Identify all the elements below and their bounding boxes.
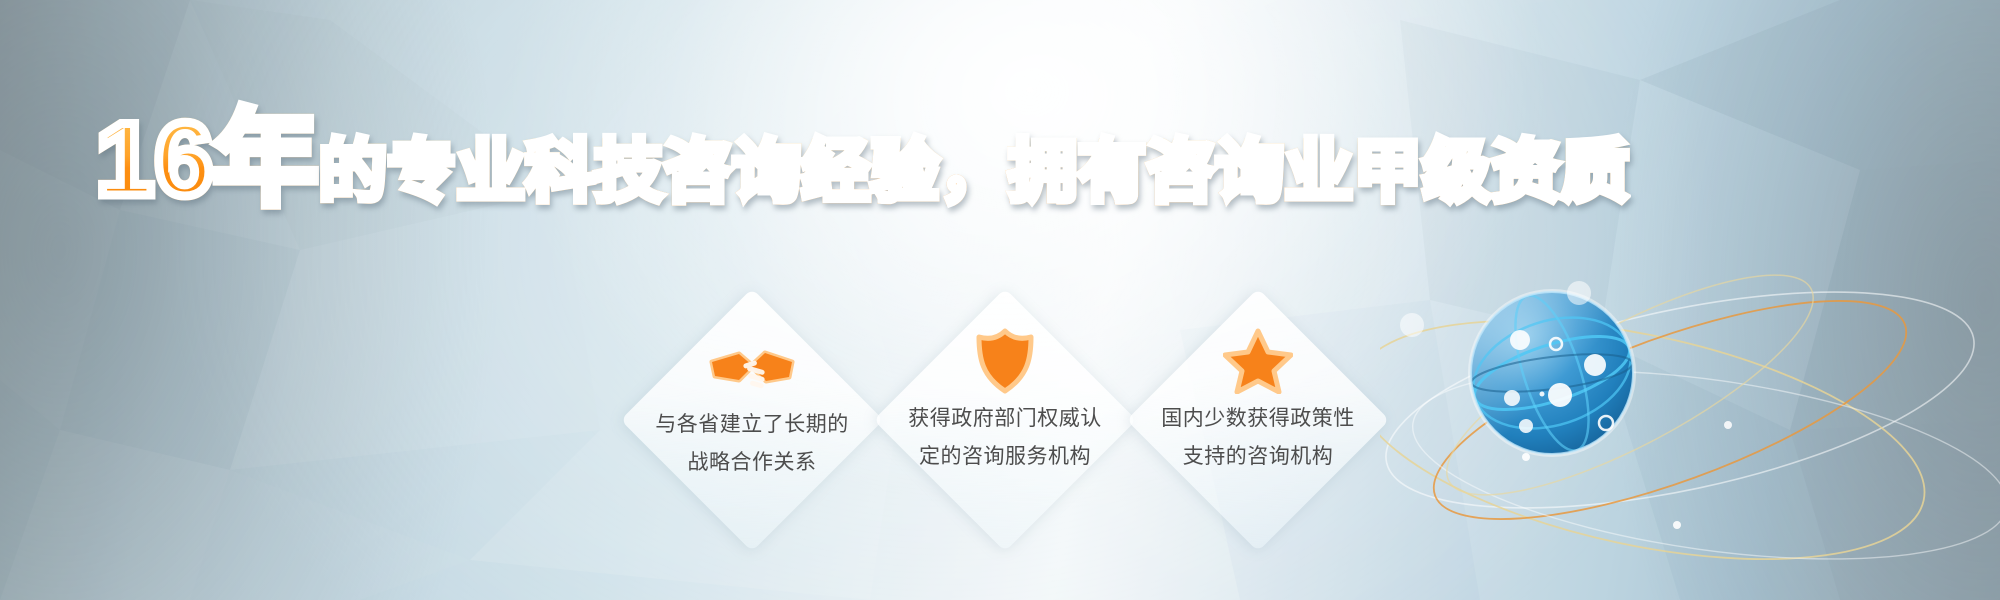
globe-decoration [1380, 250, 2000, 600]
star-icon [1108, 332, 1408, 394]
feature-card-3-line1: 国内少数获得政策性 [1108, 400, 1408, 438]
promo-banner: 16年的专业科技咨询经验，拥有咨询业甲级资质 与各省建立了 [0, 0, 2000, 600]
orbit-rings-decoration [1380, 250, 2000, 600]
headline-highlight: 16年 [96, 108, 319, 212]
headline-rest: 的专业科技咨询经验，拥有咨询业甲级资质 [319, 138, 1630, 206]
headline: 16年的专业科技咨询经验，拥有咨询业甲级资质 [96, 108, 1630, 212]
feature-card-3-line2: 支持的咨询机构 [1108, 438, 1408, 476]
feature-card-3[interactable]: 国内少数获得政策性 支持的咨询机构 [1108, 332, 1408, 476]
